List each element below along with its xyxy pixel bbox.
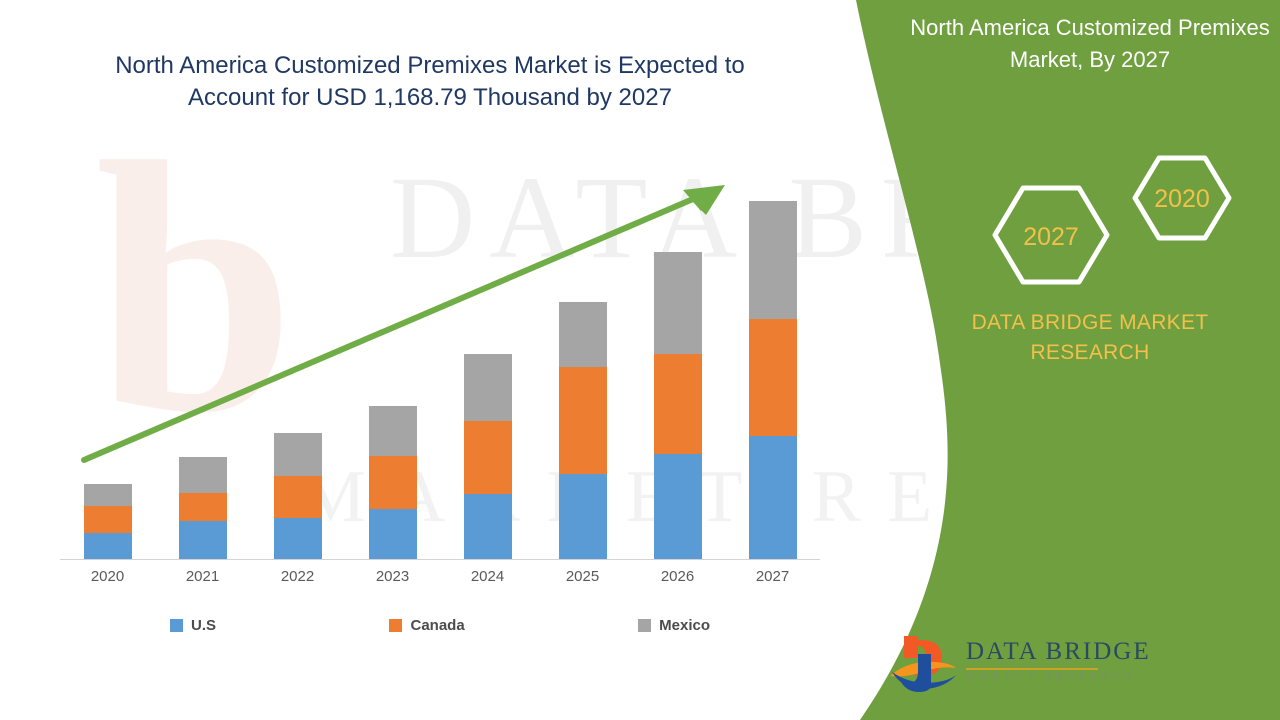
x-axis-label-2020: 2020 xyxy=(84,568,132,585)
legend-item-us[interactable]: U.S xyxy=(170,617,216,634)
bar-segment-mexico-2022[interactable] xyxy=(274,433,322,476)
legend-item-canada[interactable]: Canada xyxy=(389,617,464,634)
panel-title: North America Customized Premixes Market… xyxy=(910,12,1270,76)
x-axis-label-2026: 2026 xyxy=(654,568,702,585)
bar-segment-us-2025[interactable] xyxy=(559,474,607,559)
page-title: North America Customized Premixes Market… xyxy=(70,50,790,114)
x-axis-label-2027: 2027 xyxy=(749,568,797,585)
x-axis-label-2025: 2025 xyxy=(559,568,607,585)
chart-legend: U.SCanadaMexico xyxy=(170,617,710,634)
bar-column-2027[interactable] xyxy=(749,201,797,559)
bar-column-2024[interactable] xyxy=(464,354,512,559)
bar-segment-mexico-2021[interactable] xyxy=(179,457,227,493)
bar-column-2021[interactable] xyxy=(179,457,227,559)
legend-label: Canada xyxy=(410,617,464,634)
legend-label: U.S xyxy=(191,617,216,634)
bar-segment-mexico-2027[interactable] xyxy=(749,201,797,319)
logo-subtitle: MARKET RESEARCH xyxy=(967,671,1137,681)
infographic-canvas: b DATA BRIDGE MARKET RESEARCH North Amer… xyxy=(0,0,1280,720)
bar-segment-us-2023[interactable] xyxy=(369,509,417,559)
bar-segment-canada-2020[interactable] xyxy=(84,506,132,533)
hexagon-2020-label: 2020 xyxy=(1154,185,1210,213)
brand-name: DATA BRIDGE MARKET RESEARCH xyxy=(910,308,1270,369)
bar-segment-mexico-2023[interactable] xyxy=(369,406,417,456)
bar-group xyxy=(60,180,820,559)
legend-swatch-icon xyxy=(389,619,402,632)
chart-panel: North America Customized Premixes Market… xyxy=(0,0,900,720)
logo-mark-icon xyxy=(888,632,960,694)
hexagon-badges: 2020 2027 xyxy=(960,140,1260,290)
logo-divider xyxy=(966,668,1098,670)
x-axis-label-2021: 2021 xyxy=(179,568,227,585)
bar-column-2025[interactable] xyxy=(559,302,607,559)
panel-content: North America Customized Premixes Market… xyxy=(900,0,1280,720)
x-axis-line xyxy=(60,559,820,560)
bar-segment-canada-2024[interactable] xyxy=(464,421,512,494)
bar-column-2023[interactable] xyxy=(369,406,417,559)
bar-column-2026[interactable] xyxy=(654,252,702,559)
company-logo: DATA BRIDGE MARKET RESEARCH xyxy=(888,632,1118,698)
bar-column-2020[interactable] xyxy=(84,484,132,559)
bar-segment-us-2027[interactable] xyxy=(749,436,797,559)
bar-segment-us-2022[interactable] xyxy=(274,518,322,559)
x-axis-labels: 20202021202220232024202520262027 xyxy=(60,568,820,585)
bar-segment-mexico-2026[interactable] xyxy=(654,252,702,354)
bar-segment-canada-2023[interactable] xyxy=(369,456,417,509)
legend-swatch-icon xyxy=(170,619,183,632)
bar-segment-canada-2027[interactable] xyxy=(749,319,797,436)
x-axis-label-2023: 2023 xyxy=(369,568,417,585)
x-axis-label-2022: 2022 xyxy=(274,568,322,585)
bar-segment-us-2021[interactable] xyxy=(179,521,227,559)
plot-area xyxy=(60,180,820,560)
bar-segment-canada-2025[interactable] xyxy=(559,367,607,474)
bar-column-2022[interactable] xyxy=(274,433,322,559)
bar-segment-us-2024[interactable] xyxy=(464,494,512,559)
bar-segment-us-2020[interactable] xyxy=(84,533,132,559)
bar-segment-us-2026[interactable] xyxy=(654,454,702,559)
bar-segment-canada-2022[interactable] xyxy=(274,476,322,518)
legend-item-mexico[interactable]: Mexico xyxy=(638,617,710,634)
bar-segment-mexico-2024[interactable] xyxy=(464,354,512,421)
bar-segment-mexico-2025[interactable] xyxy=(559,302,607,367)
bar-segment-canada-2021[interactable] xyxy=(179,493,227,521)
legend-label: Mexico xyxy=(659,617,710,634)
bar-segment-mexico-2020[interactable] xyxy=(84,484,132,506)
legend-swatch-icon xyxy=(638,619,651,632)
x-axis-label-2024: 2024 xyxy=(464,568,512,585)
bar-segment-canada-2026[interactable] xyxy=(654,354,702,454)
logo-name: DATA BRIDGE xyxy=(966,638,1151,666)
hexagon-2027-label: 2027 xyxy=(1023,223,1079,251)
